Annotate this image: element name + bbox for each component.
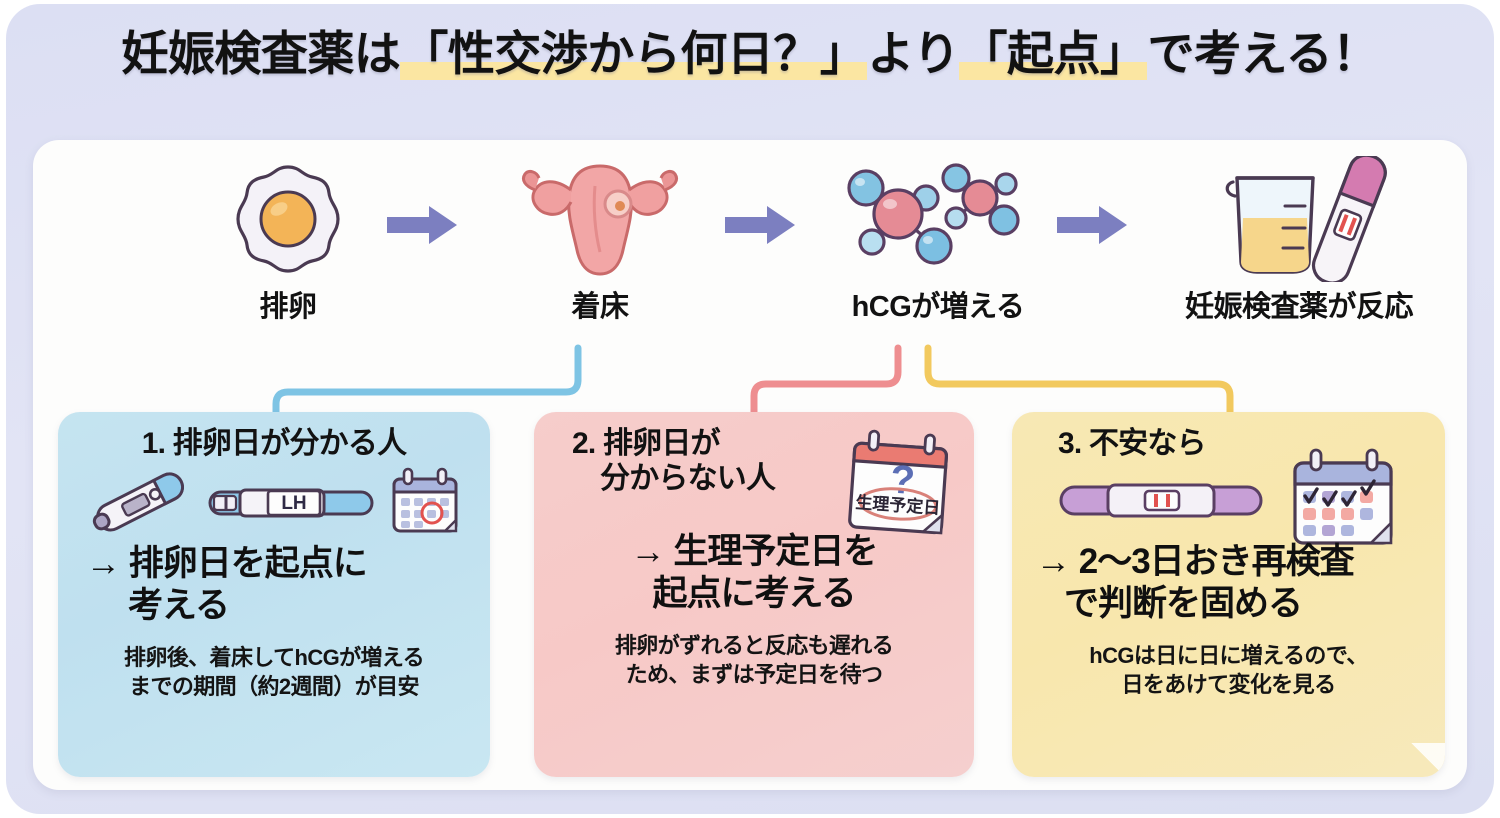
card-main-line1: → 2〜3日おき再検査 bbox=[1036, 542, 1354, 581]
flow-step-label: 着床 bbox=[571, 283, 628, 325]
lh-test-stick-icon: LH bbox=[206, 476, 376, 533]
card-note-line2: 日をあけて変化を見る bbox=[1024, 670, 1433, 699]
card-main-line1: → 排卵日を起点に bbox=[86, 544, 367, 583]
flow-step-label: 排卵 bbox=[259, 283, 316, 325]
flow-step-test-reacts: 妊娠検査薬が反応 bbox=[1149, 155, 1449, 350]
card-main-line2: 考える bbox=[86, 585, 472, 627]
card-note-line1: 排卵がずれると反応も遅れる bbox=[615, 633, 893, 658]
card-note-line1: 排卵後、着床してhCGが増える bbox=[124, 645, 424, 670]
flow-step-label: hCGが増える bbox=[852, 283, 1025, 325]
flow-arrow-3-icon bbox=[1055, 203, 1129, 247]
card-main-line2: 起点に考える bbox=[552, 573, 956, 615]
pregnancy-test-stick-icon bbox=[1057, 475, 1267, 530]
card-note-line1: hCGは日に日に増えるので、 bbox=[1089, 643, 1368, 668]
card-main-text: → 排卵日を起点に 考える bbox=[70, 543, 478, 627]
beaker-and-test-stick-icon bbox=[1189, 155, 1409, 283]
flow-step-label: 妊娠検査薬が反応 bbox=[1185, 283, 1413, 325]
flow-step-hcg: hCGが増える bbox=[833, 155, 1043, 350]
card-ovulation-unknown[interactable]: 2. 排卵日が 分からない人 ? 生理予定日 → 生理予定日を 起点に考える bbox=[534, 412, 974, 777]
card-main-line2: で判断を固める bbox=[1036, 583, 1427, 625]
card-note: hCGは日に日に増えるので、 日をあけて変化を見る bbox=[1024, 641, 1433, 699]
title-highlight-1: 「性交渉から何日？」 bbox=[400, 27, 867, 80]
title-highlight-2: 「起点」 bbox=[959, 27, 1147, 80]
card-icon-row bbox=[1024, 463, 1433, 541]
flow-arrow-1-icon bbox=[385, 203, 459, 247]
title-segment-5: で考える！ bbox=[1147, 27, 1378, 80]
thermometer-icon bbox=[84, 471, 196, 538]
title-segment-3: より bbox=[867, 27, 959, 80]
molecule-icon bbox=[838, 155, 1038, 283]
flow-arrow-2-icon bbox=[723, 203, 797, 247]
card-icon-row: LH bbox=[70, 465, 478, 543]
card-ovulation-known[interactable]: 1. 排卵日が分かる人 bbox=[58, 412, 490, 777]
card-note: 排卵後、着床してhCGが増える までの期間（約2週間）が目安 bbox=[70, 643, 478, 701]
title-segment-1: 妊娠検査薬は bbox=[121, 27, 400, 80]
card-retest[interactable]: 3. 不安なら bbox=[1012, 412, 1445, 777]
calendar-icon bbox=[386, 466, 464, 543]
process-flow: 排卵 bbox=[33, 155, 1467, 350]
infographic-root: 妊娠検査薬は「性交渉から何日？」より「起点」で考える！ 排卵 bbox=[0, 0, 1500, 818]
card-heading-line1: 2. 排卵日が bbox=[572, 427, 720, 460]
calendar-question-icon: ? 生理予定日 bbox=[838, 428, 960, 555]
card-note-line2: までの期間（約2週間）が目安 bbox=[70, 672, 478, 701]
page-title: 妊娠検査薬は「性交渉から何日？」より「起点」で考える！ bbox=[0, 28, 1500, 80]
lh-label: LH bbox=[281, 493, 306, 514]
card-note: 排卵がずれると反応も遅れる ため、まずは予定日を待つ bbox=[546, 631, 962, 689]
flow-step-ovulation: 排卵 bbox=[183, 155, 393, 350]
uterus-icon bbox=[515, 155, 685, 283]
flow-step-implantation: 着床 bbox=[495, 155, 705, 350]
ovum-icon bbox=[228, 155, 348, 283]
card-note-line2: ため、まずは予定日を待つ bbox=[546, 660, 962, 689]
card-heading: 1. 排卵日が分かる人 bbox=[70, 426, 478, 461]
